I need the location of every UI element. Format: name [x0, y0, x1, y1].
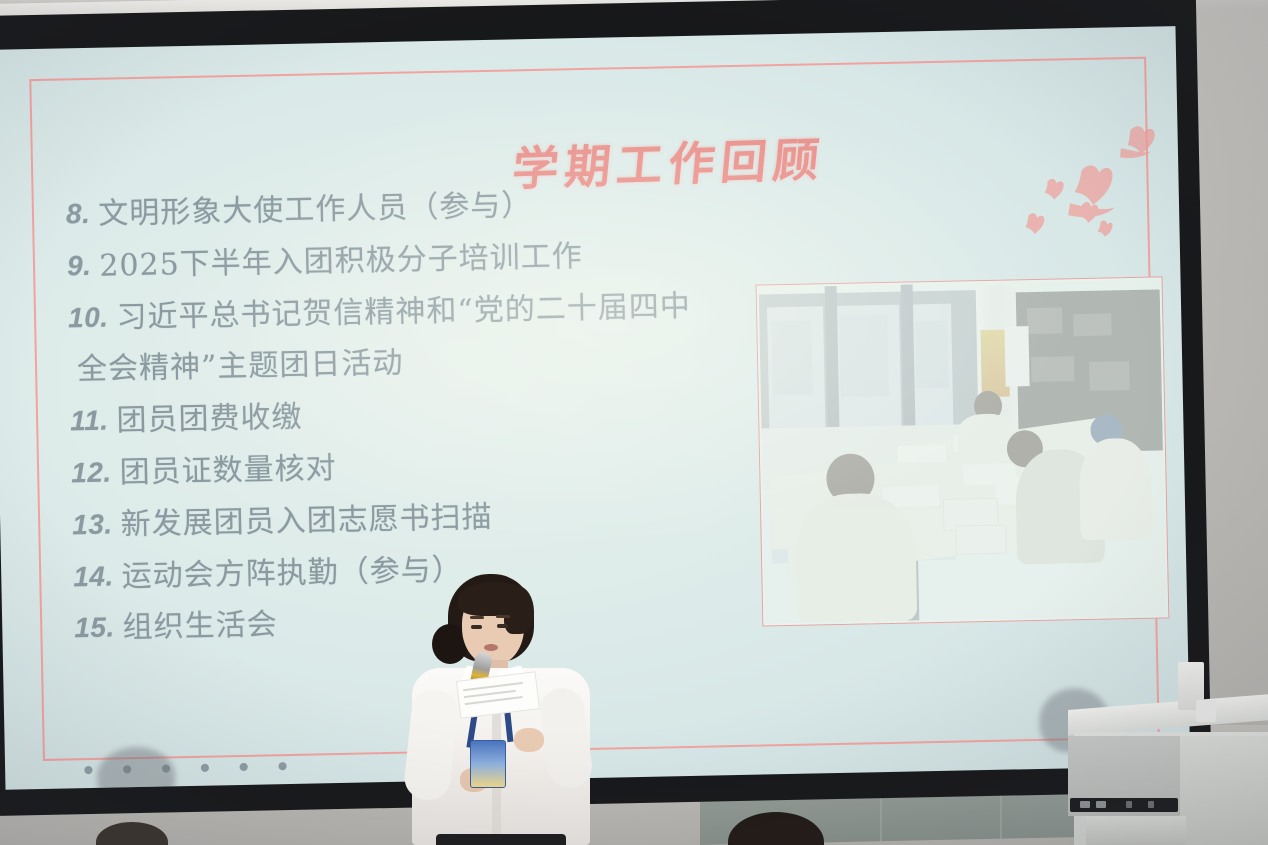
list-item-number: 14.	[73, 560, 114, 593]
presenter-fringe-side	[504, 586, 534, 634]
lectern-connector-panel[interactable]	[1070, 798, 1178, 812]
list-item-text: 全会精神”主题团日活动	[77, 347, 404, 388]
list-item-continuation: 全会精神”主题团日活动	[69, 340, 770, 389]
list-item-number: 13.	[72, 508, 113, 541]
slide-photo-content	[759, 279, 1167, 623]
list-item-text: 习近平总书记贺信精神和“党的二十届四中	[116, 289, 691, 335]
wall-outlet	[1196, 700, 1216, 722]
slide-photo	[756, 276, 1170, 626]
lectern-base	[1086, 816, 1186, 845]
list-item: 9. 2025下半年入团积极分子培训工作	[67, 236, 768, 285]
list-item-text: 团员证数量核对	[119, 452, 337, 491]
list-item-text: 文明形象大使工作人员（参与）	[98, 189, 533, 233]
lectern-front-panel	[1180, 736, 1268, 845]
flying-birds-icon	[1002, 121, 1190, 265]
list-item: 12. 团员证数量核对	[71, 443, 772, 492]
list-item-text: 团员团费收缴	[116, 401, 303, 440]
presenter-id-badge	[470, 740, 506, 788]
screenshot-root: 学期工作回顾	[0, 0, 1268, 845]
presenter-trousers	[436, 834, 566, 845]
list-item-number: 11.	[70, 405, 109, 438]
list-item-number: 8.	[66, 198, 91, 231]
presenter	[396, 572, 606, 845]
lectern	[1068, 710, 1268, 845]
list-item: 13. 新发展团员入团志愿书扫描	[72, 495, 773, 544]
list-item: 10. 习近平总书记贺信精神和“党的二十届四中	[68, 288, 769, 337]
presenter-hand-right	[514, 728, 544, 752]
list-item-text: 组织生活会	[122, 609, 278, 647]
list-item-number: 10.	[68, 301, 109, 334]
presenter-mouth	[484, 644, 498, 651]
list-item-text: 2025下半年入团积极分子培训工作	[99, 240, 583, 284]
list-item-number: 15.	[74, 612, 115, 645]
list-item: 11. 团员团费收缴	[70, 391, 771, 440]
list-item-number: 12.	[71, 457, 112, 490]
list-item-text: 新发展团员入团志愿书扫描	[120, 501, 493, 543]
list-item-number: 9.	[67, 250, 92, 283]
